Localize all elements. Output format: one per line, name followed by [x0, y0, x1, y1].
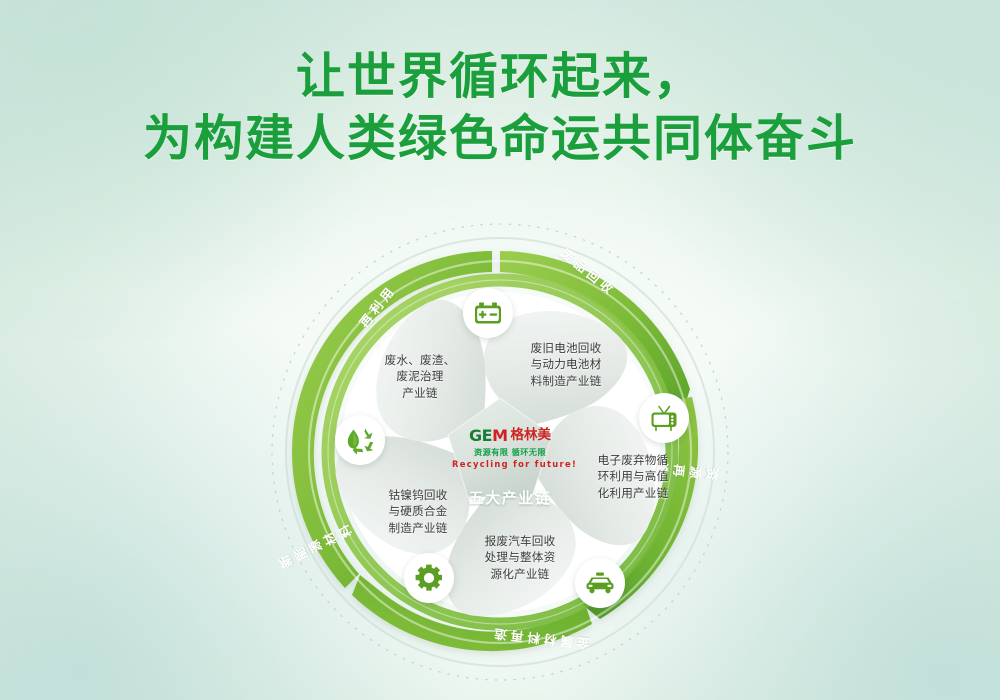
chain-line: 废泥治理 [372, 368, 468, 384]
logo-brand-row: GEM 格林美 [452, 428, 568, 444]
car-icon-bubble [575, 558, 625, 608]
chain-line: 源化产业链 [472, 566, 568, 582]
chain-line: 料制造产业链 [518, 373, 614, 389]
chain-label-waste-water: 废水、废渣、 废泥治理 产业链 [372, 352, 468, 401]
logo-brand-cn: 格林美 [510, 429, 551, 443]
logo-brand-accent: M [492, 426, 507, 445]
chain-label-battery: 废旧电池回收 与动力电池材 料制造产业链 [518, 340, 614, 389]
tv-icon-bubble [639, 393, 689, 443]
chain-label-scrap-car: 报废汽车回收 处理与整体资 源化产业链 [472, 533, 568, 582]
tv-icon [650, 405, 678, 432]
chain-line: 环利用与高值 [585, 468, 681, 484]
center-subtitle: 五大产业链 [452, 487, 568, 508]
chain-line: 废水、废渣、 [372, 352, 468, 368]
battery-icon-bubble [463, 288, 513, 338]
chain-line: 产业链 [372, 385, 468, 401]
chain-line: 化利用产业链 [585, 485, 681, 501]
gem-logo: GEM 格林美 资源有限 循环无限 Recycling for future! [452, 428, 568, 469]
chain-line: 处理与整体资 [472, 549, 568, 565]
battery-icon [474, 301, 502, 325]
logo-slogan-en: Recycling for future! [452, 459, 568, 469]
page-title: 让世界循环起来， 为构建人类绿色命运共同体奋斗 [0, 46, 1000, 169]
recycle-drop-icon [345, 426, 375, 454]
title-line-2: 为构建人类绿色命运共同体奋斗 [0, 108, 1000, 170]
gear-icon-bubble [404, 553, 454, 603]
logo-brand-latin: GEM [469, 428, 507, 444]
chain-line: 报废汽车回收 [472, 533, 568, 549]
chain-line: 制造产业链 [370, 520, 466, 536]
chain-line: 废旧电池回收 [518, 340, 614, 356]
car-icon [585, 572, 615, 594]
chain-line: 与动力电池材 [518, 356, 614, 372]
recycle-drop-icon-bubble [335, 415, 385, 465]
title-line-1: 让世界循环起来， [0, 46, 1000, 108]
logo-slogan-cn: 资源有限 循环无限 [452, 446, 568, 458]
chain-line: 电子废弃物循 [585, 452, 681, 468]
gear-icon [415, 564, 443, 592]
chain-label-e-waste: 电子废弃物循 环利用与高值 化利用产业链 [585, 452, 681, 501]
